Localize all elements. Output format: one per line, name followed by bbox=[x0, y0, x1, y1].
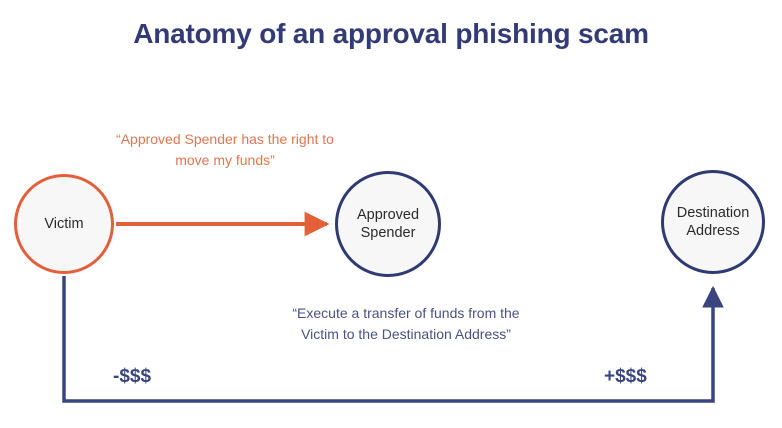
annotation-approval-quote: “Approved Spender has the right to move … bbox=[115, 129, 335, 171]
amount-outflow-label: -$$$ bbox=[113, 366, 151, 388]
page-title: Anatomy of an approval phishing scam bbox=[0, 18, 782, 50]
diagram-canvas: Anatomy of an approval phishing scam Vic… bbox=[0, 0, 782, 428]
node-victim[interactable]: Victim bbox=[14, 174, 114, 274]
annotation-transfer-quote: “Execute a transfer of funds from the Vi… bbox=[286, 303, 526, 345]
node-victim-label: Victim bbox=[40, 215, 87, 233]
node-approved-spender-label: Approved Spender bbox=[353, 206, 423, 242]
amount-inflow-label: +$$$ bbox=[604, 366, 647, 388]
node-destination-address[interactable]: Destination Address bbox=[661, 170, 765, 274]
node-destination-address-label: Destination Address bbox=[673, 204, 754, 240]
node-approved-spender[interactable]: Approved Spender bbox=[335, 171, 441, 277]
